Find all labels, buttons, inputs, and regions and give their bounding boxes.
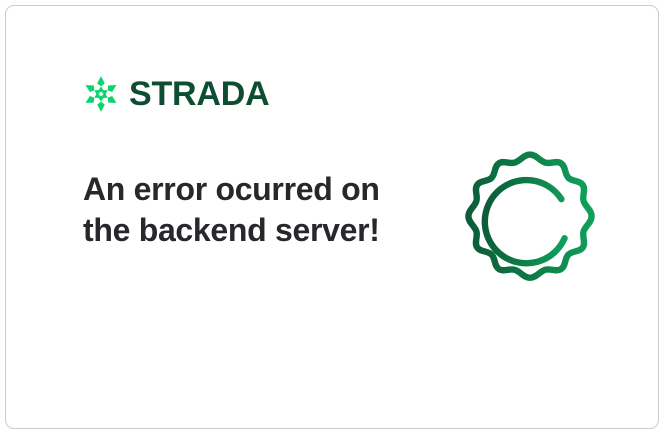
brand-logo: STRADA (82, 72, 269, 116)
error-headline: An error ocurred on the backend server! (83, 169, 383, 251)
gear-icon (450, 145, 610, 305)
error-card: STRADA An error ocurred on the backend s… (5, 5, 659, 429)
strada-asterisk-icon (82, 75, 120, 113)
error-page-screen: STRADA An error ocurred on the backend s… (0, 0, 666, 436)
brand-wordmark: STRADA (129, 77, 269, 111)
